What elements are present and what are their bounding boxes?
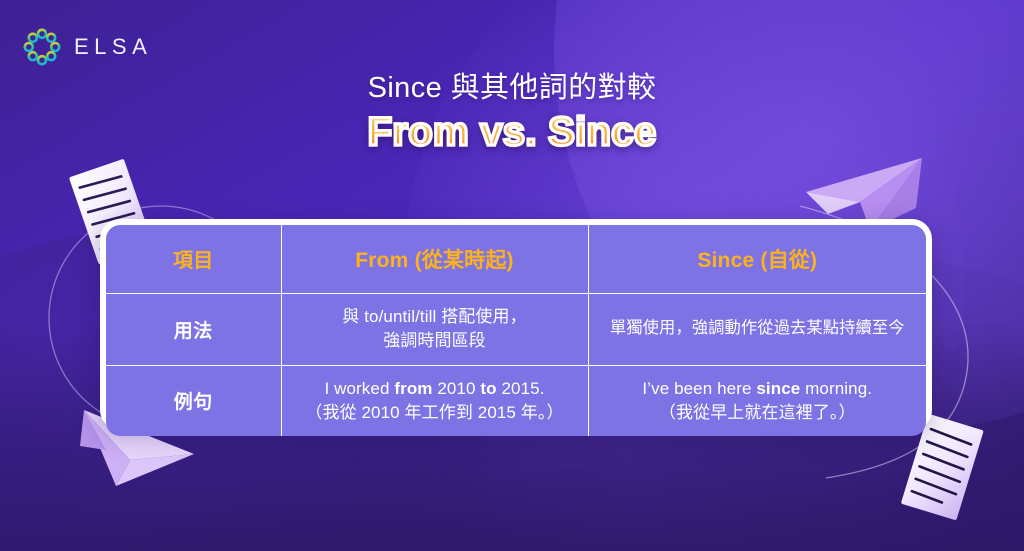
example-from-mid: 2010 bbox=[433, 379, 481, 398]
title-block: Since 與其他詞的對較 From vs. Since bbox=[0, 72, 1024, 154]
cell-usage-since: 單獨使用，強調動作從過去某點持續至今 bbox=[588, 293, 926, 365]
row-label-usage-text: 用法 bbox=[174, 321, 213, 342]
elsa-logo: ELSA bbox=[22, 27, 152, 67]
example-since-post: morning. bbox=[800, 379, 872, 398]
cell-usage-since-text: 單獨使用，強調動作從過去某點持續至今 bbox=[597, 317, 919, 340]
example-from-bold-to: to bbox=[480, 379, 496, 398]
cell-example-since: I’ve been here since morning. （我從早上就在這裡了… bbox=[588, 365, 926, 436]
column-header-from: From (從某時起) bbox=[281, 225, 588, 293]
row-label-usage: 用法 bbox=[106, 293, 281, 365]
example-from-translation: （我從 2010 年工作到 2015 年。） bbox=[305, 403, 563, 422]
table-head: 項目 From (從某時起) Since (自從) bbox=[106, 225, 926, 293]
cell-example-from-text: I worked from 2010 to 2015. （我從 2010 年工作… bbox=[290, 377, 580, 425]
slide-canvas: ELSA Since 與其他詞的對較 From vs. Since bbox=[0, 0, 1024, 551]
table-row-example: 例句 I worked from 2010 to 2015. （我從 2010 … bbox=[106, 365, 926, 436]
example-since-bold-since: since bbox=[756, 379, 800, 398]
cell-usage-from-line2: 強調時間區段 bbox=[383, 331, 486, 350]
slide-title: From vs. Since bbox=[0, 110, 1024, 154]
comparison-table-container: 項目 From (從某時起) Since (自從) 用法 bbox=[100, 219, 932, 430]
elsa-flower-logo-icon bbox=[22, 27, 62, 67]
row-label-example: 例句 bbox=[106, 365, 281, 436]
example-since-pre: I’ve been here bbox=[642, 379, 756, 398]
slide-subtitle: Since 與其他詞的對較 bbox=[0, 72, 1024, 105]
example-from-pre: I worked bbox=[324, 379, 394, 398]
column-header-item-label: 項目 bbox=[173, 250, 213, 272]
example-since-translation: （我從早上就在這裡了。） bbox=[659, 403, 856, 422]
table-header-row: 項目 From (從某時起) Since (自從) bbox=[106, 225, 926, 293]
cell-usage-from-text: 與 to/until/till 搭配使用， 強調時間區段 bbox=[290, 305, 580, 353]
elsa-wordmark: ELSA bbox=[74, 36, 152, 58]
column-header-since-label: Since (自從) bbox=[697, 249, 817, 272]
column-header-since: Since (自從) bbox=[588, 225, 926, 293]
cell-usage-from-line1: 與 to/until/till 搭配使用， bbox=[342, 307, 526, 326]
column-header-from-label: From (從某時起) bbox=[355, 249, 514, 272]
cell-example-from: I worked from 2010 to 2015. （我從 2010 年工作… bbox=[281, 365, 588, 436]
cell-usage-from: 與 to/until/till 搭配使用， 強調時間區段 bbox=[281, 293, 588, 365]
table-row-usage: 用法 與 to/until/till 搭配使用， 強調時間區段 單獨使用，強調動… bbox=[106, 293, 926, 365]
cell-example-since-text: I’ve been here since morning. （我從早上就在這裡了… bbox=[597, 377, 919, 425]
example-from-post: 2015. bbox=[497, 379, 545, 398]
example-from-bold-from: from bbox=[394, 379, 432, 398]
row-label-example-text: 例句 bbox=[174, 392, 213, 413]
table-body: 用法 與 to/until/till 搭配使用， 強調時間區段 單獨使用，強調動… bbox=[106, 293, 926, 436]
column-header-item: 項目 bbox=[106, 225, 281, 293]
comparison-table: 項目 From (從某時起) Since (自從) 用法 bbox=[106, 225, 926, 436]
